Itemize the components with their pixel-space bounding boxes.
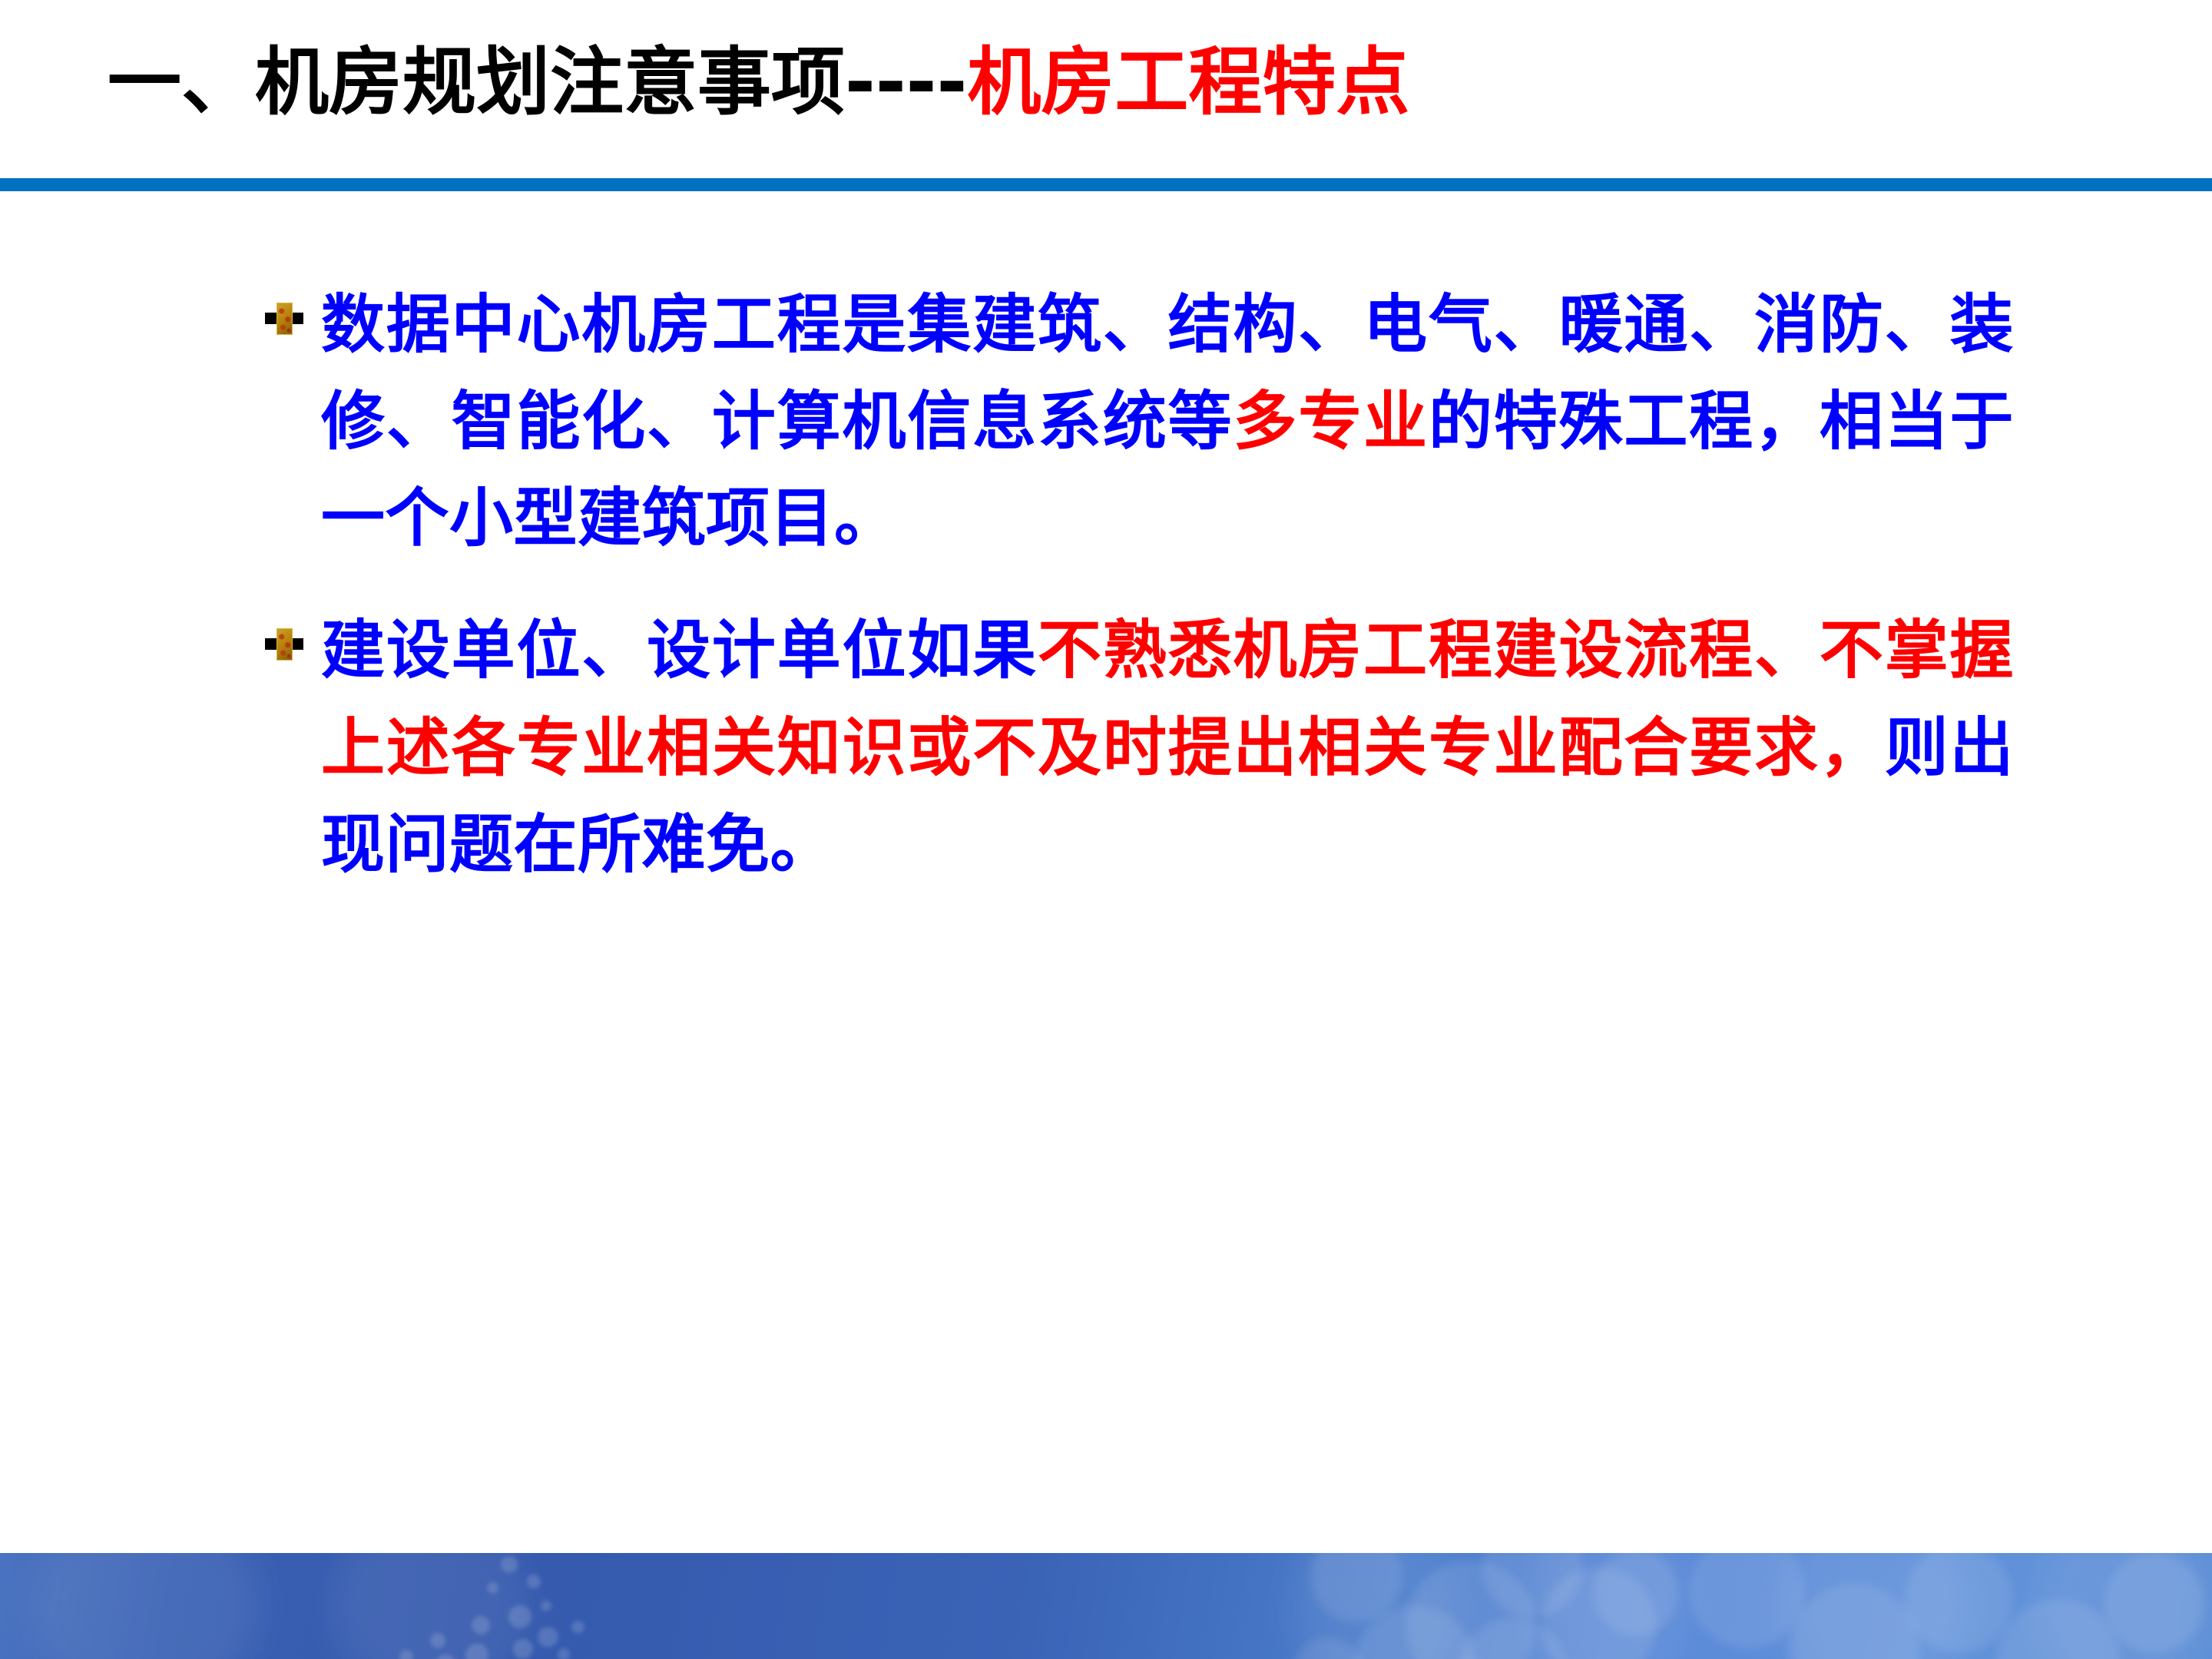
gold-square-bullet-icon	[265, 303, 303, 335]
title-divider-rule	[0, 178, 2212, 191]
page-title-red-part: 机房工程特点	[967, 39, 1409, 125]
bottom-decorative-band	[0, 1553, 2212, 1659]
bullet-paragraph-2: 建设单位、设计单位如果不熟悉机房工程建设流程、不掌握上述各专业相关知识或不及时提…	[0, 602, 2212, 892]
body-content: 数据中心机房工程是集建筑、结构、电气、暖通、消防、装修、智能化、计算机信息系统等…	[0, 276, 2212, 929]
gold-square-bullet-icon	[265, 628, 303, 661]
slide-root: 一、机房规划注意事项----机房工程特点 数据中心机房工程是集建筑、结构、电气、…	[0, 0, 2212, 1659]
bullet-paragraph-1: 数据中心机房工程是集建筑、结构、电气、暖通、消防、装修、智能化、计算机信息系统等…	[0, 276, 2212, 567]
page-title: 一、机房规划注意事项----机房工程特点	[108, 40, 1409, 124]
bullet-2-segment-1: 建设单位、设计单位如果	[321, 613, 1038, 687]
title-area: 一、机房规划注意事项----机房工程特点	[0, 40, 2212, 163]
bullet-1-segment-2-highlight: 多专业	[1233, 384, 1428, 459]
page-title-black-part: 一、机房规划注意事项----	[108, 39, 967, 125]
